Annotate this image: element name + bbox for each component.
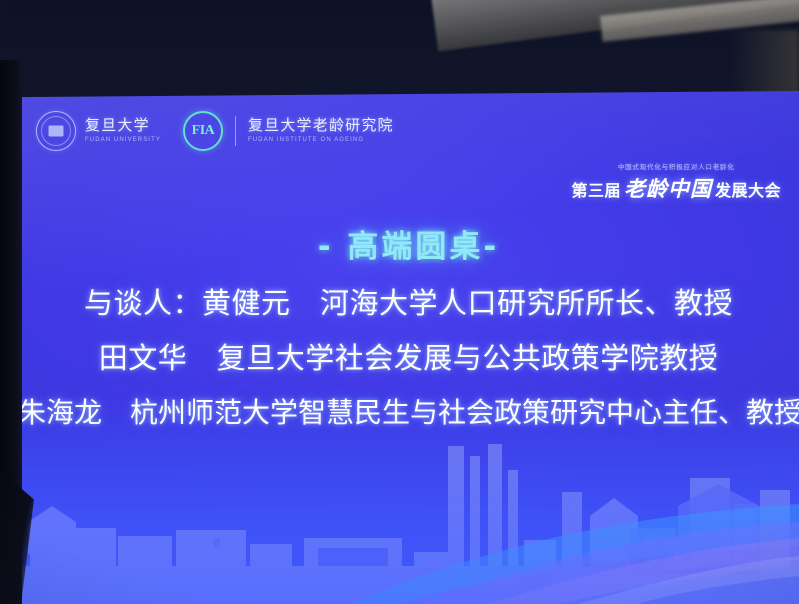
logo-fudan-university-cn: 复旦大学 [85,118,161,135]
logo-institute-cn: 复旦大学老龄研究院 [248,118,394,135]
panelist-line: 田文华 复旦大学社会发展与公共政策学院教授 [18,344,799,373]
conference-title-emphasis: 老龄中国 [624,173,712,203]
conference-title-suffix: 发展大会 [715,177,781,201]
panelist-list: 与谈人：黄健元 河海大学人口研究所所长、教授 田文华 复旦大学社会发展与公共政策… [18,289,799,453]
panelist-line: 与谈人：黄健元 河海大学人口研究所所长、教授 [18,289,799,318]
session-headline: - 高端圆桌- [18,221,799,266]
skyline-silhouette [18,444,799,604]
screenshot-root: 复旦大学 FUDAN UNIVERSITY FIA 复旦大学老龄研究院 FUDA… [0,0,799,604]
projection-screen: 复旦大学 FUDAN UNIVERSITY FIA 复旦大学老龄研究院 FUDA… [18,91,799,604]
logo-fudan-university-en: FUDAN UNIVERSITY [85,137,161,144]
logo-row: 复旦大学 FUDAN UNIVERSITY FIA 复旦大学老龄研究院 FUDA… [36,111,394,151]
university-seal-icon [36,111,76,151]
fia-circle-icon: FIA [183,111,223,151]
logo-institute-en: FUDAN INSTITUTE ON AGEING [248,137,394,144]
conference-title-prefix: 第三届 [571,177,621,201]
conference-title: 第三届 老龄中国 发展大会 [571,173,781,203]
conference-subtitle: 中国式现代化与积极应对人口老龄化 [571,161,781,171]
logo-fudan-university-text: 复旦大学 FUDAN UNIVERSITY [85,118,161,144]
logo-divider [235,116,236,146]
logo-institute-text: 复旦大学老龄研究院 FUDAN INSTITUTE ON AGEING [248,118,394,144]
conference-badge: 中国式现代化与积极应对人口老龄化 第三届 老龄中国 发展大会 [571,161,781,203]
logo-fudan-university: 复旦大学 FUDAN UNIVERSITY [36,111,161,151]
panelist-line: 朱海龙 杭州师范大学智慧民生与社会政策研究中心主任、教授 [18,399,799,427]
logo-fudan-institute-on-ageing: FIA 复旦大学老龄研究院 FUDAN INSTITUTE ON AGEING [183,111,394,151]
